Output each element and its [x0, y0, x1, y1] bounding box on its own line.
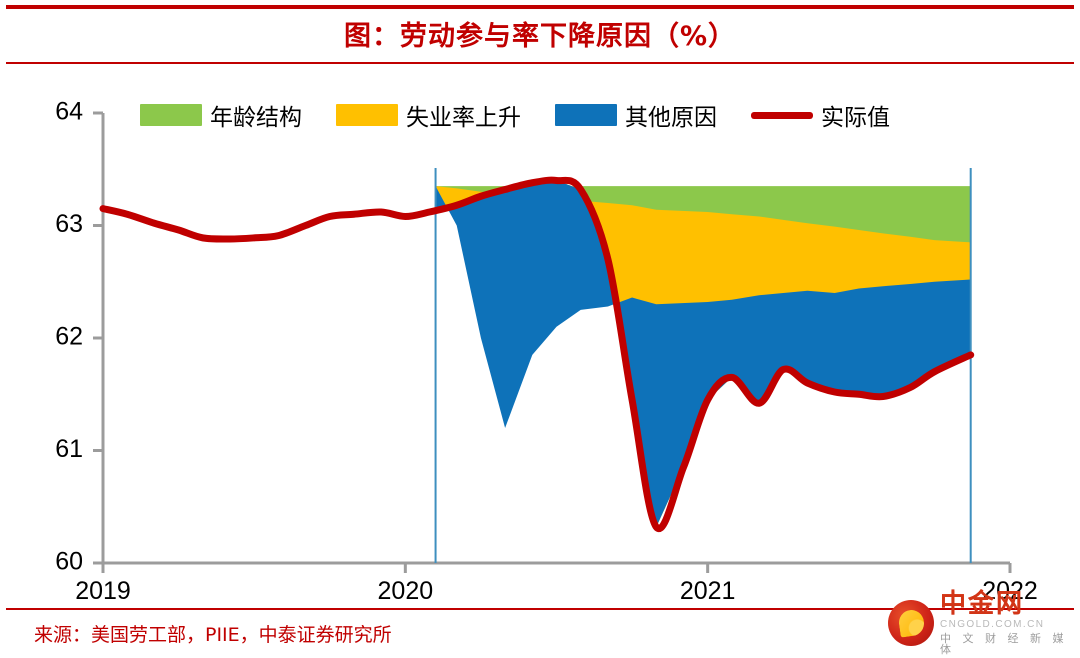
y-axis-tick-label: 64: [55, 98, 83, 126]
y-axis-tick-label: 60: [55, 548, 83, 576]
watermark-domain: CNGOLD.COM.CN: [940, 620, 1068, 630]
chart-svg: 6061626364 2019202020212022: [0, 0, 1080, 600]
watermark-tagline: 中 文 财 经 新 媒 体: [940, 633, 1068, 655]
y-axis-tick-label: 62: [55, 323, 83, 351]
chart-legend: 年龄结构 失业率上升 其他原因 实际值: [140, 98, 890, 132]
watermark-brand: 中金网: [940, 591, 1068, 617]
legend-label-unemployment: 失业率上升: [406, 98, 521, 132]
watermark-text-block: 中金网 CNGOLD.COM.CN 中 文 财 经 新 媒 体: [940, 591, 1068, 655]
legend-swatch-yellow: [336, 104, 398, 126]
cngold-badge-icon: [888, 600, 934, 646]
legend-swatch-blue: [555, 104, 617, 126]
x-axis-tick-label: 2019: [75, 577, 131, 600]
x-axis-tick-label: 2021: [680, 577, 736, 600]
watermark-logo: 中金网 CNGOLD.COM.CN 中 文 财 经 新 媒 体: [888, 592, 1068, 654]
y-axis-labels: 6061626364: [55, 98, 83, 576]
legend-item-other-reasons[interactable]: 其他原因: [555, 98, 717, 132]
source-note: 来源：美国劳工部，PIIE，中泰证券研究所: [34, 620, 392, 647]
legend-swatch-red-line: [751, 112, 813, 119]
legend-label-other-reasons: 其他原因: [625, 98, 717, 132]
legend-item-age-structure[interactable]: 年龄结构: [140, 98, 302, 132]
y-axis-tick-label: 61: [55, 435, 83, 463]
chart-plot-area: 6061626364 2019202020212022: [0, 0, 1080, 600]
x-axis-tick-label: 2020: [378, 577, 434, 600]
legend-swatch-green: [140, 104, 202, 126]
legend-item-unemployment[interactable]: 失业率上升: [336, 98, 521, 132]
y-axis-tick-label: 63: [55, 210, 83, 238]
legend-label-age-structure: 年龄结构: [210, 98, 302, 132]
legend-label-actual-value: 实际值: [821, 98, 890, 132]
legend-item-actual-value[interactable]: 实际值: [751, 98, 890, 132]
